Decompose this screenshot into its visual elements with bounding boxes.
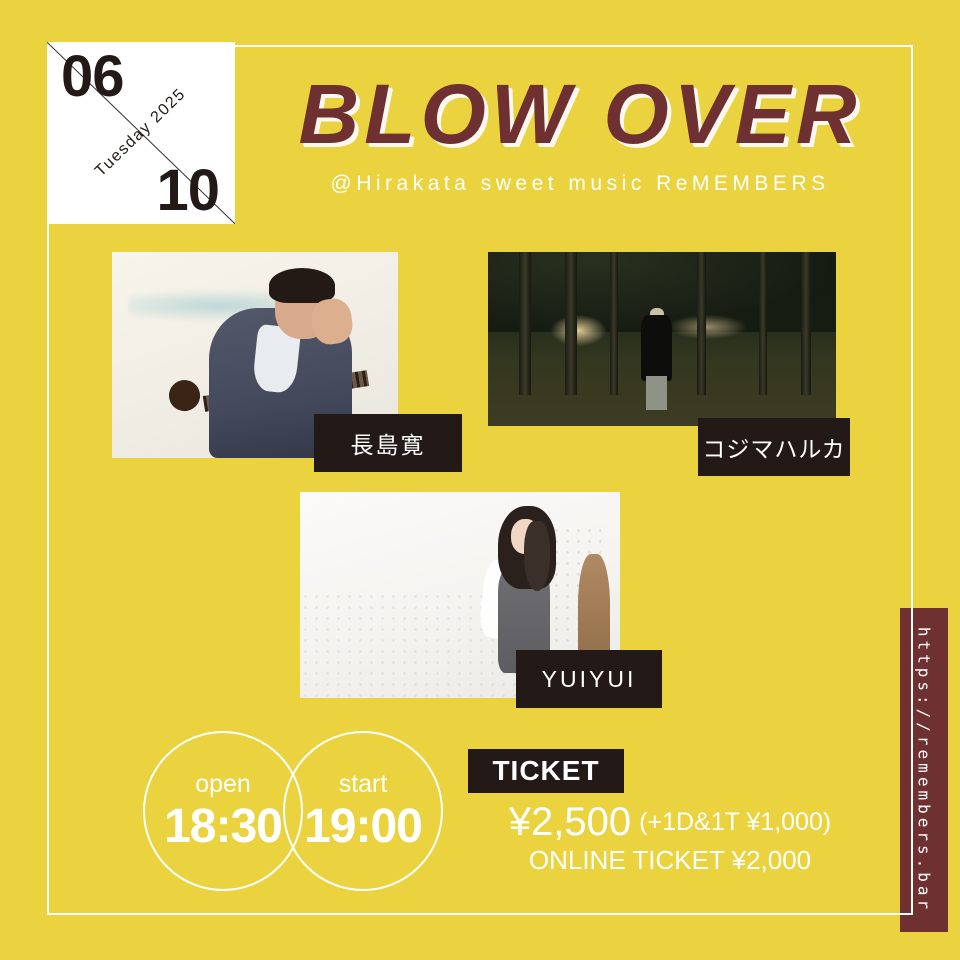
date-card: 06 Tuesday 2025 10 — [47, 42, 235, 224]
website-url-bar[interactable]: https://remembers.bar — [900, 608, 948, 932]
event-flyer: 06 Tuesday 2025 10 BLOW OVER @Hirakata s… — [0, 0, 960, 960]
ticket-badge: TICKET — [468, 749, 624, 793]
artist-name-label: 長島寛 — [351, 426, 426, 460]
open-label: open — [195, 772, 251, 797]
park-lamp-glow — [551, 315, 607, 346]
start-label: start — [339, 772, 388, 797]
title-block: BLOW OVER @Hirakata sweet music ReMEMBER… — [250, 72, 910, 196]
artist-name-plate: コジマハルカ — [698, 418, 850, 476]
website-url-label: https://remembers.bar — [915, 627, 934, 913]
tree-trunk-shape — [610, 252, 618, 395]
start-time-value: 19:00 — [304, 803, 422, 851]
ticket-price: ¥2,500 — [509, 800, 631, 844]
event-title: BLOW OVER — [250, 72, 910, 156]
ticket-badge-label: TICKET — [492, 755, 599, 787]
tree-trunk-shape — [801, 252, 811, 395]
artist-photo-kojima — [488, 252, 836, 426]
start-time-circle: start 19:00 — [283, 731, 443, 891]
date-month: 06 — [61, 48, 124, 106]
open-time-circle: open 18:30 — [143, 731, 303, 891]
open-time-value: 18:30 — [164, 803, 282, 851]
person-hair-shape — [269, 268, 335, 303]
ticket-price-note: (+1D&1T ¥1,000) — [639, 808, 831, 836]
tree-trunk-shape — [697, 252, 706, 395]
date-day: 10 — [156, 162, 219, 220]
person-coat-shape — [641, 315, 672, 381]
ticket-price-row: ¥2,500(+1D&1T ¥1,000) — [460, 800, 880, 845]
person-hair-strand-shape — [524, 521, 550, 591]
park-lamp-glow-secondary — [669, 315, 746, 339]
tree-trunk-shape — [759, 252, 767, 395]
artist-name-label: YUIYUI — [542, 666, 637, 693]
person-legs-shape — [646, 376, 667, 411]
artist-name-label: コジマハルカ — [702, 430, 845, 464]
online-ticket-price: ONLINE TICKET ¥2,000 — [460, 845, 880, 876]
artist-name-plate: YUIYUI — [516, 650, 662, 708]
tree-trunk-shape — [565, 252, 577, 395]
event-venue-subtitle: @Hirakata sweet music ReMEMBERS — [250, 172, 910, 196]
artist-name-plate: 長島寛 — [314, 414, 462, 472]
tree-trunk-shape — [519, 252, 531, 395]
